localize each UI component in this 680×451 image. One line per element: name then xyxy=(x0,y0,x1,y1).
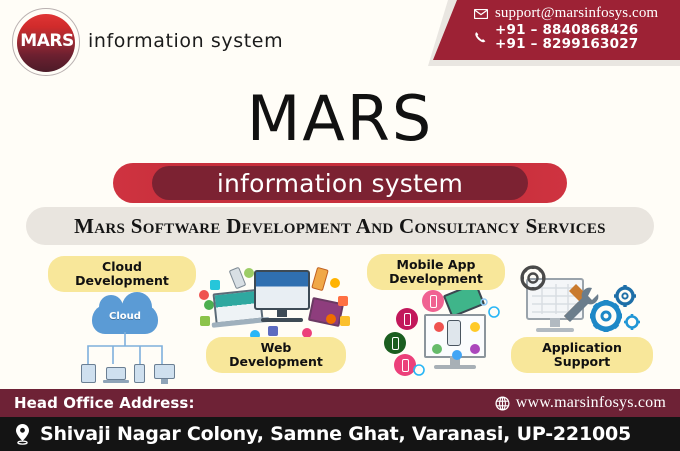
web-devices-illustration xyxy=(198,266,350,346)
gears-and-tools-icons xyxy=(512,264,644,344)
network-dots xyxy=(372,288,512,384)
gear-icon xyxy=(624,314,640,330)
logo-wordmark: information system xyxy=(88,30,283,54)
mars-circle-logo-icon: MARS xyxy=(12,8,80,76)
service-badge-mobile-app-development[interactable]: Mobile AppDevelopment xyxy=(367,254,505,290)
contact-phone-1: +91 – 8840868426 xyxy=(495,23,638,37)
brand-subtitle-pill: information system xyxy=(113,163,567,203)
service-badge-label: CloudDevelopment xyxy=(75,260,169,288)
app-chip-icon xyxy=(199,290,209,300)
app-chip-icon xyxy=(268,326,278,336)
device-tablet-icon xyxy=(81,364,96,383)
gears-tools-illustration xyxy=(512,264,644,344)
gear-icon xyxy=(614,285,636,307)
device-monitor-icon xyxy=(254,270,310,310)
location-pin-icon xyxy=(14,423,31,445)
device-desktop-icon xyxy=(154,364,175,379)
cloud-label-text: Cloud xyxy=(92,311,158,322)
contact-email-text: support@marsinfosys.com xyxy=(495,5,658,22)
cloud-network-illustration: Cloud xyxy=(70,304,180,384)
contact-phone-2: +91 – 8299163027 xyxy=(495,37,638,51)
footer-address-text: Shivaji Nagar Colony, Samne Ghat, Varana… xyxy=(40,423,631,445)
globe-icon xyxy=(495,396,510,411)
envelope-icon xyxy=(473,9,488,19)
top-header: MARS information system support@marsinfo… xyxy=(0,0,680,88)
gear-icon xyxy=(521,266,546,291)
contact-email-row[interactable]: support@marsinfosys.com xyxy=(473,5,670,22)
app-chip-icon xyxy=(326,314,336,324)
service-badge-label: ApplicationSupport xyxy=(542,341,622,369)
app-chip-icon xyxy=(340,316,350,326)
brand-subtitle-text: information system xyxy=(217,171,463,196)
brand-subtitle-inner: information system xyxy=(152,166,528,200)
app-chip-icon xyxy=(244,268,254,278)
app-chip-icon xyxy=(210,280,220,290)
service-badge-cloud-development[interactable]: CloudDevelopment xyxy=(48,256,196,292)
contact-phone-row[interactable]: +91 – 8840868426 +91 – 8299163027 xyxy=(473,23,670,51)
device-smartphone-icon xyxy=(311,267,329,291)
head-office-label: Head Office Address: xyxy=(14,394,195,412)
brand-logo[interactable]: MARS information system xyxy=(12,8,283,76)
service-badge-web-development[interactable]: WebDevelopment xyxy=(206,337,346,373)
phone-icon xyxy=(473,31,488,44)
contact-phone-numbers: +91 – 8840868426 +91 – 8299163027 xyxy=(495,23,638,51)
footer-website-link[interactable]: www.marsinfosys.com xyxy=(495,394,666,412)
tagline-bar: Mars Software Development And Consultanc… xyxy=(26,207,654,245)
services-section: Cloud xyxy=(0,248,680,390)
service-badge-application-support[interactable]: ApplicationSupport xyxy=(511,337,653,373)
app-chip-icon xyxy=(200,316,210,326)
monitor-base xyxy=(261,318,303,322)
business-card: MARS information system support@marsinfo… xyxy=(0,0,680,451)
gear-icon xyxy=(590,300,622,332)
tagline-text: Mars Software Development And Consultanc… xyxy=(74,214,606,239)
brand-title: MARS xyxy=(0,88,680,150)
app-chip-icon xyxy=(338,296,348,306)
footer-bottom-bar: Shivaji Nagar Colony, Samne Ghat, Varana… xyxy=(0,417,680,451)
footer: Head Office Address: www.marsinfosys.com… xyxy=(0,389,680,451)
app-chip-icon xyxy=(330,278,340,288)
service-badge-label: Mobile AppDevelopment xyxy=(389,258,483,286)
footer-website-text: www.marsinfosys.com xyxy=(516,394,666,412)
device-laptop-icon xyxy=(106,367,126,380)
footer-top-bar: Head Office Address: www.marsinfosys.com xyxy=(0,389,680,417)
mobile-devices-illustration xyxy=(372,288,512,384)
logo-mark-text: MARS xyxy=(15,33,79,50)
service-badge-label: WebDevelopment xyxy=(229,341,323,369)
contact-banner: support@marsinfosys.com +91 – 8840868426… xyxy=(433,0,680,60)
device-phone-icon xyxy=(134,364,145,383)
